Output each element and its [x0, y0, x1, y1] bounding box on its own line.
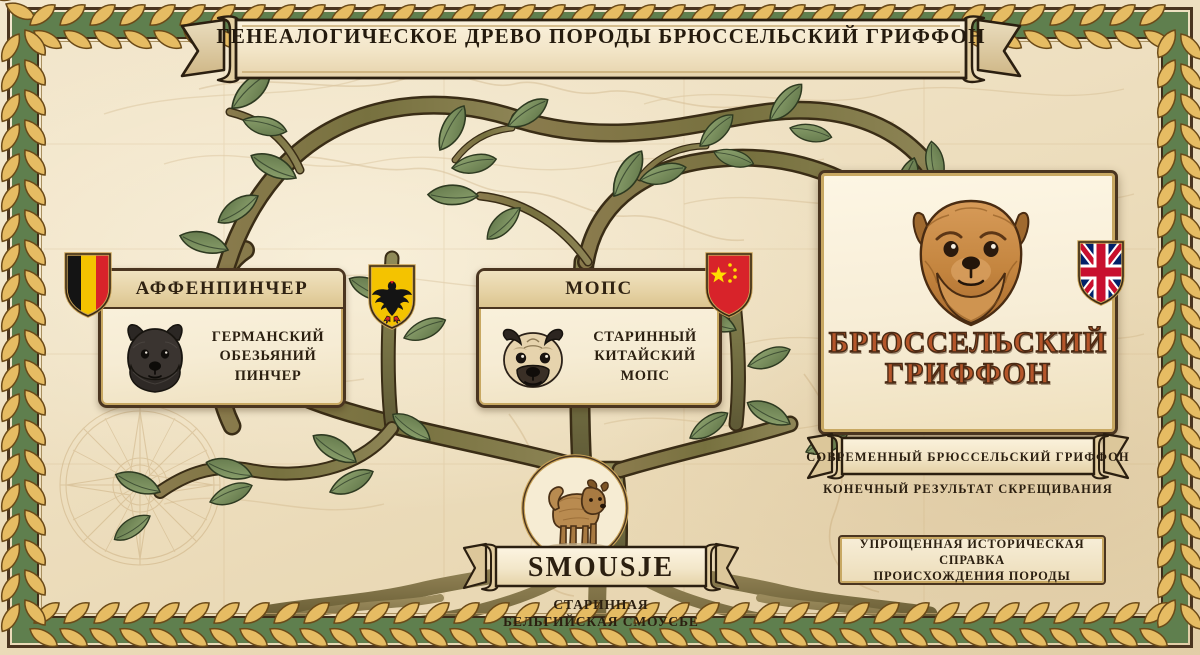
affenpinscher-portrait-icon	[109, 314, 201, 400]
pug-portrait-icon	[487, 314, 579, 400]
united-kingdom-flag-shield	[1075, 238, 1127, 306]
infographic-poster: ГЕНЕАЛОГИЧЕСКОЕ ДРЕВО ПОРОДЫ БРЮССЕЛЬСКИ…	[0, 0, 1200, 655]
card-subtitle-pug: СТАРИННЫЙ КИТАЙСКИЙ МОПС	[579, 328, 711, 385]
card-title-pug: МОПС	[565, 278, 633, 300]
hero-title: БРЮССЕЛЬСКИЙ ГРИФФОН	[821, 328, 1115, 389]
belgium-flag-shield	[62, 250, 114, 318]
hero-caption: КОНЕЧНЫЙ РЕЗУЛЬТАТ СКРЕЩИВАНИЯ	[818, 482, 1118, 497]
poster-title: ГЕНЕАЛОГИЧЕСКОЕ ДРЕВО ПОРОДЫ БРЮССЕЛЬСКИ…	[178, 24, 1024, 49]
ancestor-card-affenpinscher[interactable]: АФФЕНПИНЧЕР	[98, 268, 346, 408]
card-header-affenpinscher: АФФЕНПИНЧЕР	[101, 271, 343, 309]
china-flag-shield	[703, 250, 755, 318]
germany-eagle-shield	[366, 262, 418, 330]
historical-note-box[interactable]: УПРОЩЕННАЯ ИСТОРИЧЕСКАЯ СПРАВКА ПРОИСХОЖ…	[838, 535, 1106, 585]
smousje-name: SMOUSJE	[462, 552, 740, 584]
card-header-pug: МОПС	[479, 271, 719, 309]
card-body-affenpinscher: ГЕРМАНСКИЙ ОБЕЗЬЯНИЙ ПИНЧЕР	[101, 309, 343, 405]
brussels-griffon-portrait-icon	[897, 187, 1045, 337]
historical-note-text: УПРОЩЕННАЯ ИСТОРИЧЕСКАЯ СПРАВКА ПРОИСХОЖ…	[840, 536, 1104, 585]
ancestor-card-pug[interactable]: МОПС	[476, 268, 722, 408]
card-subtitle-affenpinscher: ГЕРМАНСКИЙ ОБЕЗЬЯНИЙ ПИНЧЕР	[201, 328, 335, 385]
card-body-pug: СТАРИННЫЙ КИТАЙСКИЙ МОПС	[479, 309, 719, 405]
smousje-subtitle: СТАРИННАЯ БЕЛЬГИЙСКАЯ СМОУСЬЕ	[440, 597, 762, 631]
hero-ribbon-text: СОВРЕМЕННЫЙ БРЮССЕЛЬСКИЙ ГРИФФОН	[806, 450, 1130, 465]
card-title-affenpinscher: АФФЕНПИНЧЕР	[136, 278, 309, 300]
hero-card-brussels-griffon[interactable]: БРЮССЕЛЬСКИЙ ГРИФФОН	[818, 170, 1118, 435]
